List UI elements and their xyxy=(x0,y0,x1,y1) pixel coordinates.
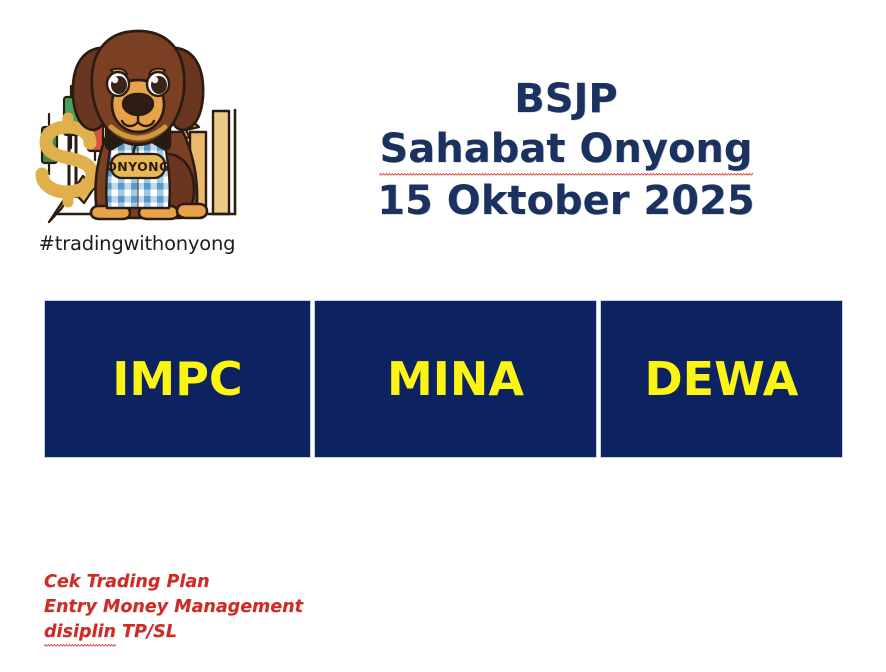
note-line-3: disiplin TP/SL xyxy=(44,620,464,647)
note-text: TP/SL xyxy=(116,622,177,642)
dachshund-trading-mascot-logo-icon: ONYONG xyxy=(14,14,260,236)
subtitle-text: Sahabat Onyong xyxy=(379,124,752,176)
title-line-date: 15 Oktober 2025 xyxy=(266,176,866,226)
note-text-misspelled: disiplin xyxy=(44,620,116,647)
ticker-cell-impc[interactable]: IMPC xyxy=(44,300,311,458)
page-title: BSJP Sahabat Onyong 15 Oktober 2025 xyxy=(266,74,866,226)
note-line-1: Cek Trading Plan xyxy=(44,570,464,595)
brand-hashtag: #tradingwithonyong xyxy=(14,232,260,255)
ticker-label: MINA xyxy=(387,356,524,402)
ticker-cell-mina[interactable]: MINA xyxy=(314,300,597,458)
svg-text:ONYONG: ONYONG xyxy=(106,159,169,174)
ticker-table: IMPC MINA DEWA xyxy=(44,300,843,458)
note-text: Entry Money Management xyxy=(44,597,303,617)
ticker-cell-dewa[interactable]: DEWA xyxy=(600,300,843,458)
title-line-subtitle: Sahabat Onyong xyxy=(266,124,866,176)
ticker-label: IMPC xyxy=(112,356,242,402)
note-text: Cek Trading Plan xyxy=(44,572,210,592)
title-line-main: BSJP xyxy=(266,74,866,124)
title-text: BSJP xyxy=(514,76,618,122)
brand-logo-block: ONYONG xyxy=(14,14,260,272)
ticker-label: DEWA xyxy=(645,356,799,402)
slide-header: ONYONG xyxy=(0,0,886,288)
trading-notes: Cek Trading Plan Entry Money Management … xyxy=(44,570,464,647)
note-line-2: Entry Money Management xyxy=(44,595,464,620)
date-text: 15 Oktober 2025 xyxy=(377,178,755,224)
